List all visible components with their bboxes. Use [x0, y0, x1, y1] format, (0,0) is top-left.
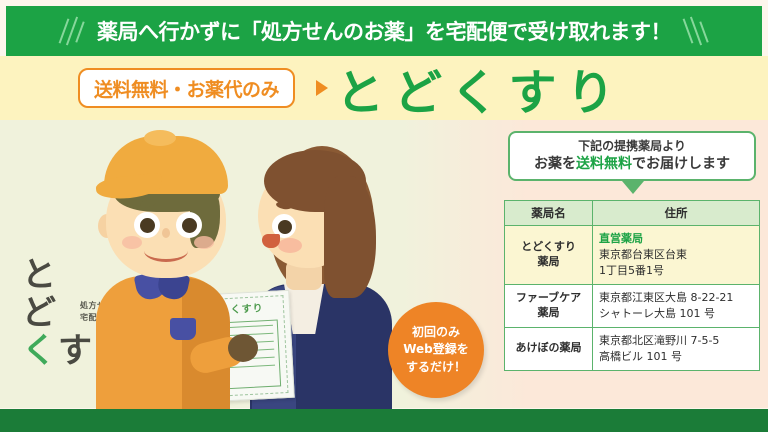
- pharmacy-table: 薬局名 住所 とどくすり 薬局 直営薬局 東京都台東区台東 1丁目5番1号 ファ…: [504, 200, 760, 371]
- badge-arrow-icon: [316, 80, 328, 96]
- address-line-2: 1丁目5番1号: [599, 263, 753, 279]
- circle-badge-line-1: 初回のみ: [412, 324, 460, 341]
- courier-eye-pupil-right: [182, 218, 197, 233]
- courier-cheek-left: [122, 236, 142, 249]
- cell-pharmacy-name: とどくすり 薬局: [505, 226, 593, 285]
- column-header-address: 住所: [593, 201, 760, 226]
- cell-address: 直営薬局 東京都台東区台東 1丁目5番1号: [593, 226, 760, 285]
- table-row: ファーブケア 薬局 東京都江東区大島 8-22-21 シャトーレ大島 101 号: [505, 284, 760, 327]
- circle-badge-line-2: Web登録を: [403, 341, 469, 358]
- pharmacy-name-line-1: とどくすり: [511, 240, 586, 255]
- top-banner: 薬局へ行かずに「処方せんのお薬」を宅配便で受け取れます！: [6, 6, 762, 56]
- circle-badge-line-3: するだけ！: [406, 359, 466, 376]
- pharmacy-name-line-2: 薬局: [511, 306, 586, 321]
- slash-decoration-right-icon: [683, 12, 709, 50]
- brand-name: とどくすり: [336, 57, 756, 119]
- address-line-1: 東京都北区滝野川 7-5-5: [599, 333, 753, 349]
- illustration: くすり: [78, 128, 408, 410]
- watermark-ku: く: [22, 331, 58, 371]
- courier-eye-pupil-left: [140, 218, 155, 233]
- customer-mouth: [262, 234, 280, 248]
- free-shipping-badge-label: 送料無料・お薬代のみ: [94, 75, 279, 102]
- free-shipping-badge: 送料無料・お薬代のみ: [78, 68, 295, 108]
- pharmacy-name-line-2: 薬局: [511, 255, 586, 270]
- pharmacy-name-line-1: ファーブケア: [511, 291, 586, 306]
- callout-line-2-post: でお届けします: [632, 156, 730, 172]
- pharmacy-name-line-1: あけぼの薬局: [511, 341, 586, 356]
- cell-pharmacy-name: ファーブケア 薬局: [505, 284, 593, 327]
- courier-nose: [162, 228, 170, 238]
- courier-cheek-right: [194, 236, 214, 249]
- courier-pocket: [170, 318, 196, 340]
- slash-decoration-left-icon: [59, 12, 85, 50]
- courier-cap-button: [144, 130, 176, 146]
- cell-pharmacy-name: あけぼの薬局: [505, 327, 593, 370]
- banner-headline: 薬局へ行かずに「処方せんのお薬」を宅配便で受け取れます！: [97, 16, 671, 46]
- table-header-row: 薬局名 住所: [505, 201, 760, 226]
- customer-cheek: [278, 238, 302, 253]
- courier-mouth: [144, 240, 188, 262]
- address-line-1: 東京都江東区大島 8-22-21: [599, 290, 753, 306]
- pharmacy-table-head: 薬局名 住所: [505, 201, 760, 226]
- customer-hair-side: [324, 176, 376, 298]
- callout-line-1: 下記の提携薬局より: [578, 138, 686, 154]
- column-header-pharmacy-name: 薬局名: [505, 201, 593, 226]
- callout-line-2-pre: お薬を: [534, 156, 576, 172]
- delivery-callout: 下記の提携薬局より お薬を送料無料でお届けします: [508, 131, 756, 181]
- table-row: あけぼの薬局 東京都北区滝野川 7-5-5 高橋ビル 101 号: [505, 327, 760, 370]
- cell-address: 東京都北区滝野川 7-5-5 高橋ビル 101 号: [593, 327, 760, 370]
- address-line-2: シャトーレ大島 101 号: [599, 306, 753, 322]
- footer-bar: [0, 409, 768, 432]
- courier-hand: [228, 334, 258, 362]
- table-row: とどくすり 薬局 直営薬局 東京都台東区台東 1丁目5番1号: [505, 226, 760, 285]
- advertisement-banner: 薬局へ行かずに「処方せんのお薬」を宅配便で受け取れます！ 送料無料・お薬代のみ …: [0, 0, 768, 432]
- first-time-registration-badge: 初回のみ Web登録を するだけ！: [388, 302, 484, 398]
- address-line-1: 東京都台東区台東: [599, 247, 753, 263]
- callout-highlight: 送料無料: [576, 156, 632, 172]
- address-line-2: 高橋ビル 101 号: [599, 349, 753, 365]
- pharmacy-table-body: とどくすり 薬局 直営薬局 東京都台東区台東 1丁目5番1号 ファーブケア 薬局…: [505, 226, 760, 371]
- callout-line-2: お薬を送料無料でお届けします: [534, 155, 730, 174]
- cell-address: 東京都江東区大島 8-22-21 シャトーレ大島 101 号: [593, 284, 760, 327]
- paper-line: [223, 325, 273, 329]
- address-tag: 直営薬局: [599, 231, 753, 247]
- callout-tail-icon: [622, 181, 644, 194]
- customer-eye-pupil: [278, 220, 292, 234]
